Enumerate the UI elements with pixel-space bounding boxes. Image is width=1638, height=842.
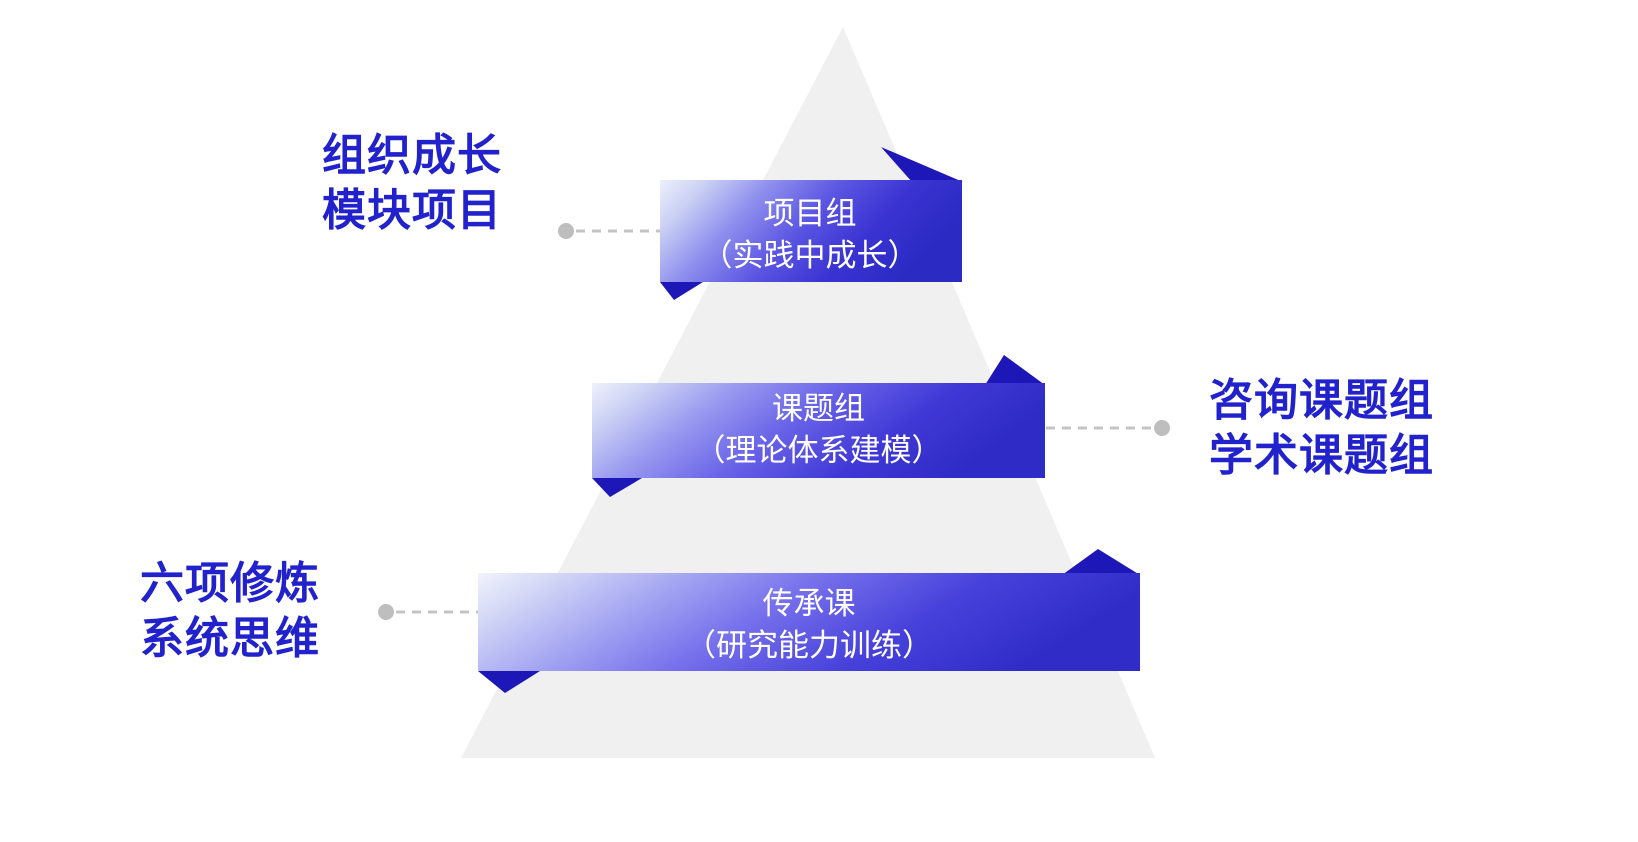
side-label-top-left-line2: 模块项目 (322, 183, 502, 238)
connector-dot-middle-right (1154, 420, 1170, 436)
side-label-top-left: 组织成长 模块项目 (322, 128, 502, 239)
ribbon-bottom (478, 573, 1140, 671)
diagram-canvas: 项目组 （实践中成长） 课题组 （理论体系建模） 传承课 （研究能力训练） 组织… (0, 0, 1638, 842)
ribbon-fold-top-left (660, 282, 703, 300)
connector-middle-right (1046, 420, 1170, 436)
ribbon-top (660, 180, 962, 282)
ribbon-middle (592, 383, 1045, 478)
ribbon-fold-middle-right-tip (985, 355, 1045, 385)
side-label-middle-right-line1: 咨询课题组 (1209, 373, 1434, 428)
side-label-bottom-left: 六项修炼 系统思维 (140, 556, 320, 667)
connector-dot-bottom-left (378, 604, 394, 620)
side-label-middle-right: 咨询课题组 学术课题组 (1209, 373, 1434, 484)
ribbon-fold-bottom-right-tip (1062, 549, 1140, 575)
side-label-bottom-left-line2: 系统思维 (140, 611, 320, 666)
side-label-middle-right-line2: 学术课题组 (1209, 428, 1434, 483)
connector-dot-top-left (558, 223, 574, 239)
side-label-top-left-line1: 组织成长 (322, 128, 502, 183)
connector-bottom-left (378, 604, 478, 620)
connector-top-left (558, 223, 660, 239)
side-label-bottom-left-line1: 六项修炼 (140, 556, 320, 611)
